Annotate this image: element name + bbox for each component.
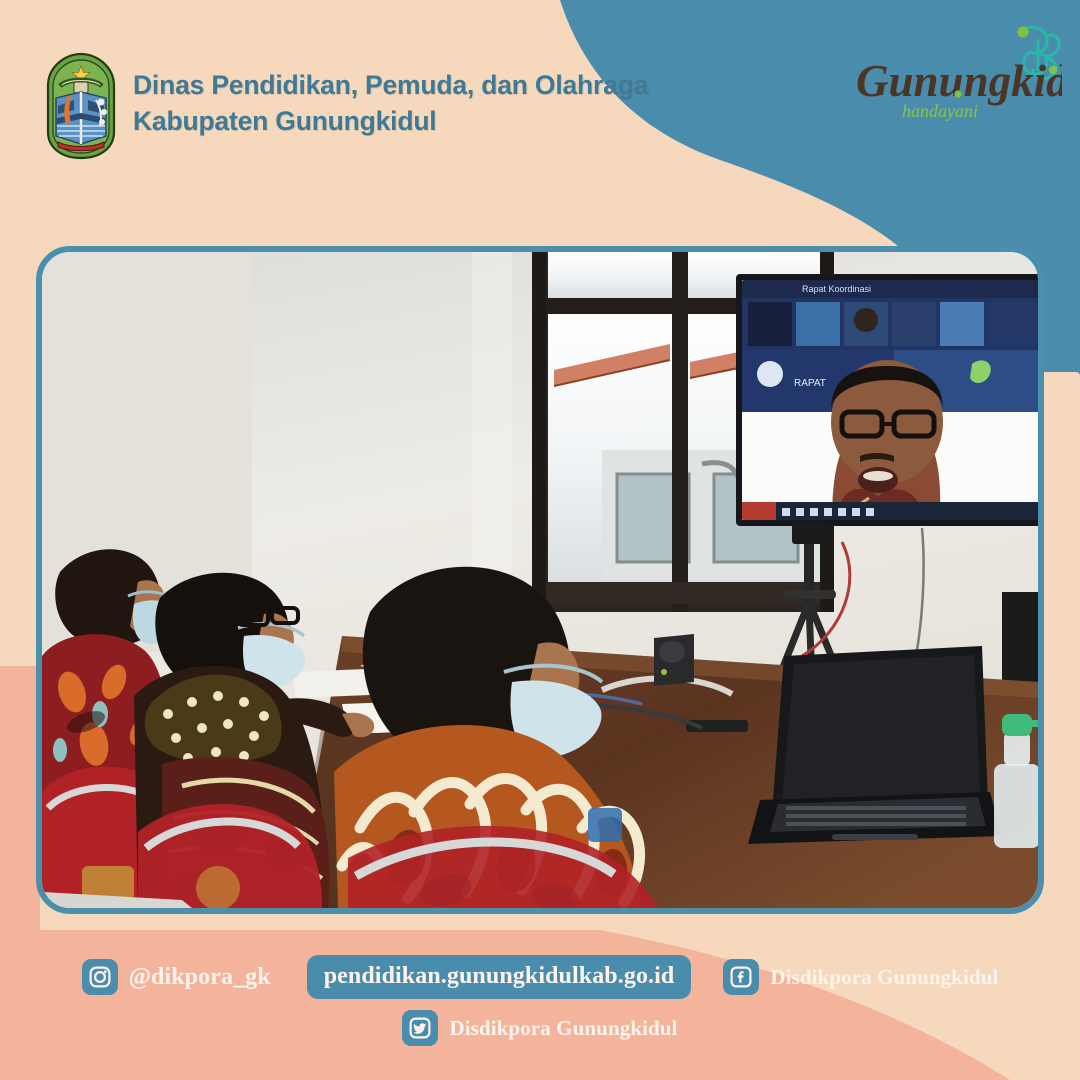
- twitter-link[interactable]: Disdikpora Gunungkidul: [402, 1010, 677, 1046]
- facebook-link[interactable]: Disdikpora Gunungkidul: [723, 959, 998, 995]
- footer: @dikpora_gk pendidikan.gunungkidulkab.go…: [0, 930, 1080, 1080]
- coat-of-arms-icon: [44, 52, 118, 160]
- svg-text:Rapat Koordinasi: Rapat Koordinasi: [802, 284, 871, 294]
- header: Dinas Pendidikan, Pemuda, dan OlahragaKa…: [0, 0, 1080, 230]
- page-title: Dinas Pendidikan, Pemuda, dan OlahragaKa…: [133, 68, 648, 139]
- logo-tagline: handayani: [902, 101, 978, 121]
- footer-row-primary: @dikpora_gk pendidikan.gunungkidulkab.go…: [0, 955, 1080, 999]
- tv-video-call: Rapat Koordinasi RAPAT: [742, 280, 1038, 522]
- facebook-icon[interactable]: [723, 959, 759, 995]
- org-title-line2: Kabupaten Gunungkidul: [133, 106, 436, 136]
- speaker: [654, 634, 694, 686]
- org-title-line1: Dinas Pendidikan, Pemuda, dan Olahraga: [133, 70, 648, 100]
- laptop: [748, 646, 1002, 844]
- logo-wordmark: Gunungkidul: [856, 56, 1062, 106]
- footer-row-secondary: Disdikpora Gunungkidul: [0, 1010, 1080, 1046]
- television: Rapat Koordinasi RAPAT: [736, 274, 1038, 526]
- meeting-photo: Rapat Koordinasi RAPAT: [42, 252, 1038, 908]
- gunungkidul-handayani-logo-icon: Gunungkidul handayani: [850, 22, 1062, 130]
- instagram-icon[interactable]: [82, 959, 118, 995]
- website-url-pill[interactable]: pendidikan.gunungkidulkab.go.id: [307, 955, 692, 999]
- svg-text:RAPAT: RAPAT: [794, 378, 826, 389]
- facebook-handle: Disdikpora Gunungkidul: [770, 965, 998, 990]
- instagram-handle: @dikpora_gk: [129, 964, 271, 991]
- twitter-handle: Disdikpora Gunungkidul: [449, 1016, 677, 1041]
- poster-canvas: Dinas Pendidikan, Pemuda, dan OlahragaKa…: [0, 0, 1080, 1080]
- twitter-icon[interactable]: [402, 1010, 438, 1046]
- instagram-link[interactable]: @dikpora_gk: [82, 959, 271, 995]
- photo-frame: Rapat Koordinasi RAPAT: [36, 246, 1044, 914]
